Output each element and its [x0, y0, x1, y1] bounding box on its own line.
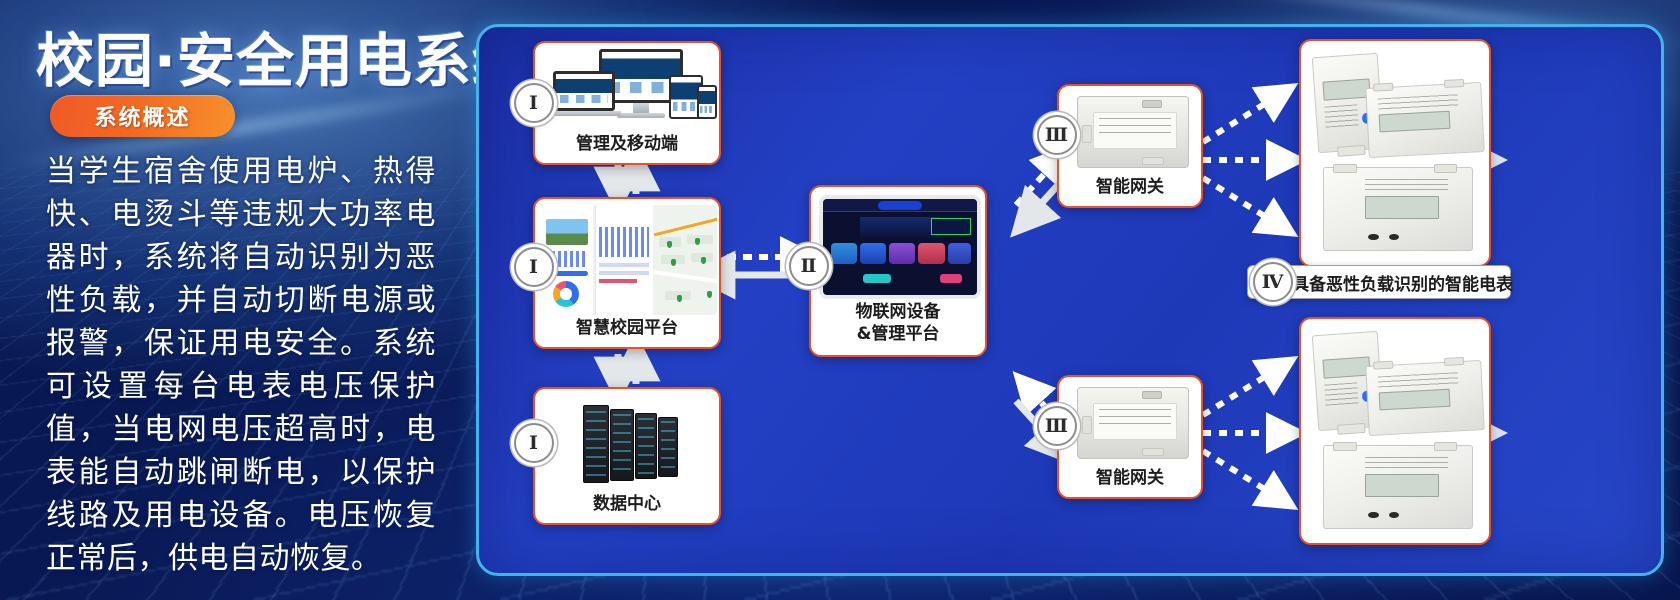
meter-lcd-bottom-3: [1365, 474, 1439, 497]
map-analytics-bars: [599, 227, 649, 257]
node-smart-gateway-bottom-label: 智能网关: [1059, 468, 1201, 489]
smart-gateway-device-top: [1077, 96, 1189, 168]
campus-photo-thumb: [546, 219, 588, 245]
meter-clip-bottom-2b: [1443, 357, 1464, 366]
meter-print-bottom-1: [1324, 382, 1359, 405]
node-iot-platform-label-line2: &管理平台: [811, 323, 985, 345]
map-block-2: [687, 235, 713, 244]
overview-panel: 校园·安全用电系统 系统概述 当学生宿舍使用电炉、热得快、电烫斗等违规大功率电器…: [0, 0, 470, 600]
meter-print-bottom-3: [1365, 457, 1448, 468]
smart-meter-din-bottom: [1323, 445, 1473, 529]
smart-meter-three-phase-bottom: [1365, 360, 1485, 436]
management-terminal-artwork: [535, 47, 723, 131]
smart-campus-platform-screenshot: [541, 205, 717, 315]
node-management-terminal-label: 管理及移动端: [535, 134, 719, 155]
dashboard-status-pill-1: [863, 274, 891, 283]
node-smart-campus-platform[interactable]: 智慧校园平台: [533, 197, 721, 349]
meter-print-top-1: [1324, 104, 1359, 127]
node-iot-platform-label-line1: 物联网设备: [811, 301, 985, 323]
server-rack-4: [658, 417, 678, 477]
node-data-center-label: 数据中心: [535, 494, 719, 515]
meter-lcd-bottom-1: [1322, 357, 1371, 379]
map-analytics-column: [595, 205, 653, 315]
server-rack-3: [635, 413, 657, 479]
meter-lcd-top-3: [1365, 196, 1439, 219]
map-pin-6: [707, 291, 712, 298]
meter-clip-top-3b: [1434, 164, 1458, 173]
map-pin-3: [671, 259, 676, 266]
gateway-label-face-top: [1093, 112, 1177, 148]
meter-print-bottom-2: [1378, 372, 1458, 388]
gateway-din-clip-top: [1082, 125, 1092, 143]
server-rack-2: [610, 409, 634, 481]
connector-campus-to-iot: [711, 257, 801, 275]
dashboard-alert-box: [931, 218, 971, 235]
map-road-2: [653, 270, 717, 284]
connector-gateway-bottom-to-meters: [1203, 368, 1285, 498]
system-diagram-panel: 管理及移动端 Ⅰ: [476, 24, 1664, 576]
page-title: 校园·安全用电系统: [36, 14, 531, 98]
node-smart-campus-platform-label: 智慧校园平台: [535, 318, 719, 339]
meter-indicator-top-3b: [1389, 234, 1399, 241]
badge-numeral-smart-campus-platform: Ⅰ: [514, 247, 554, 287]
smart-meter-three-phase-top: [1365, 82, 1485, 158]
dashboard-tile-2: [860, 243, 886, 264]
dashboard-tile-1: [831, 243, 857, 264]
meter-indicator-top-3: [1368, 234, 1378, 241]
gateway-terminal-top: [1142, 157, 1164, 165]
dashboard-tile-4: [918, 243, 944, 264]
map-analytics-row-3: [599, 279, 637, 283]
node-management-terminal[interactable]: 管理及移动端: [533, 41, 721, 165]
data-center-artwork: [581, 401, 681, 487]
monitor-stand: [633, 103, 649, 113]
smart-gateway-device-bottom: [1077, 387, 1189, 459]
meter-lcd-top-2: [1379, 111, 1451, 132]
dashboard-city-graphic: [860, 217, 940, 238]
connector-terminal-to-campus: [618, 164, 636, 194]
smart-meter-din-top: [1323, 167, 1473, 251]
badge-numeral-management-terminal: Ⅰ: [514, 83, 554, 123]
dashboard-tile-5: [948, 243, 971, 264]
meter-clip-bottom-3a: [1333, 442, 1357, 451]
map-pin-4: [701, 257, 706, 264]
connector-campus-to-datacenter: [618, 354, 636, 384]
dashboard-tile-3: [889, 243, 915, 264]
map-sidebar-donut: [553, 281, 579, 307]
laptop-icon: [553, 71, 615, 111]
badge-numeral-data-center: Ⅰ: [514, 423, 554, 463]
node-iot-platform[interactable]: 物联网设备 &管理平台: [809, 185, 987, 357]
gateway-terminal-bottom: [1142, 448, 1164, 456]
meter-clip-bottom-1: [1337, 423, 1366, 434]
meter-indicator-bottom-3: [1368, 512, 1378, 519]
gateway-usb-port-bottom: [1142, 391, 1162, 399]
gateway-usb-port-top: [1142, 100, 1162, 108]
node-smart-gateway-top-label: 智能网关: [1059, 177, 1201, 198]
meter-clip-top-3a: [1333, 164, 1357, 173]
map-pin-5: [677, 295, 682, 302]
meter-lcd-top-1: [1322, 79, 1371, 101]
gateway-din-clip-bottom: [1082, 416, 1092, 434]
dashboard-title-pill: [878, 201, 921, 210]
badge-numeral-iot-platform: Ⅱ: [789, 246, 829, 286]
meter-lcd-bottom-2: [1379, 389, 1451, 410]
node-smart-meters-bottom[interactable]: [1299, 317, 1491, 545]
monitor-base: [617, 113, 665, 118]
badge-numeral-smart-gateway-top: Ⅲ: [1037, 115, 1077, 155]
meter-clip-top-2b: [1443, 79, 1464, 88]
badge-numeral-meter-callout: Ⅳ: [1253, 262, 1293, 302]
node-smart-gateway-bottom[interactable]: 智能网关: [1057, 375, 1203, 499]
meter-clip-top-1: [1337, 145, 1366, 156]
node-data-center[interactable]: 数据中心: [533, 387, 721, 525]
meter-clip-bottom-2a: [1373, 361, 1394, 370]
badge-numeral-smart-gateway-bottom: Ⅲ: [1037, 406, 1077, 446]
map-analytics-row-1: [599, 263, 649, 267]
server-rack-1: [583, 405, 609, 483]
meter-clip-bottom-3b: [1434, 442, 1458, 451]
map-road-1: [654, 217, 717, 237]
meter-print-top-2: [1378, 94, 1458, 110]
map-pin-2: [695, 238, 700, 245]
meter-clip-top-2a: [1373, 83, 1394, 92]
node-smart-meters-top[interactable]: [1299, 39, 1491, 267]
meter-print-top-3: [1365, 179, 1448, 190]
node-iot-platform-label: 物联网设备 &管理平台: [811, 301, 985, 345]
gateway-label-face-bottom: [1093, 403, 1177, 439]
iot-platform-dashboard: [819, 195, 981, 299]
phone-icon: [697, 85, 717, 119]
node-smart-gateway-top[interactable]: 智能网关: [1057, 84, 1203, 208]
connector-gateway-top-to-meters: [1203, 95, 1285, 225]
map-pin-1: [667, 241, 672, 248]
laptop-base: [547, 111, 621, 116]
map-analytics-row-2: [599, 271, 649, 275]
dashboard-status-pill-2: [940, 274, 962, 283]
overview-paragraph: 当学生宿舍使用电炉、热得快、电烫斗等违规大功率电器时，系统将自动识别为恶性负载，…: [46, 150, 436, 580]
section-badge: 系统概述: [50, 95, 235, 137]
meter-indicator-bottom-3b: [1389, 512, 1399, 519]
